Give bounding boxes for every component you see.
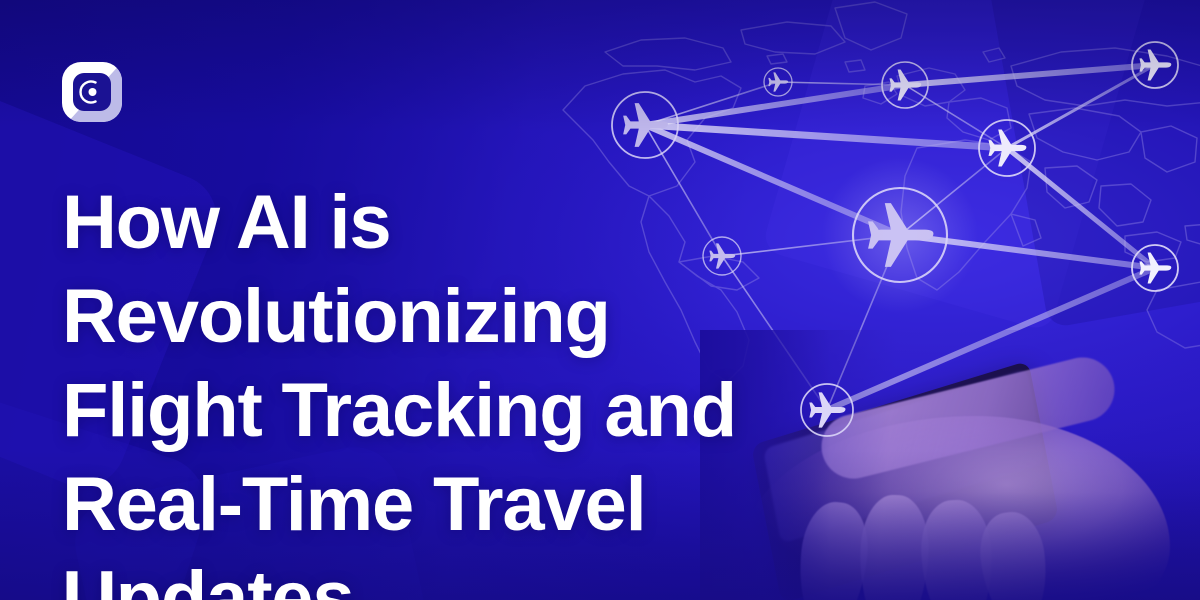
page-title: How AI is Revolutionizing Flight Trackin… <box>62 176 822 600</box>
hero-banner: How AI is Revolutionizing Flight Trackin… <box>0 0 1200 600</box>
brand-logo[interactable] <box>62 62 122 122</box>
